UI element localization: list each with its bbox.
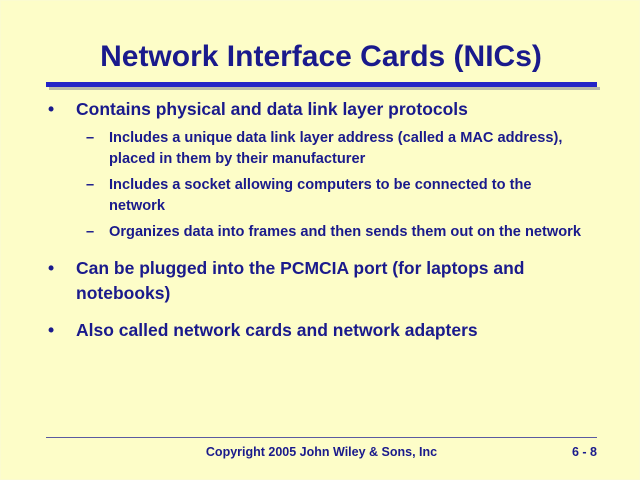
bullet-marker-icon: • — [48, 97, 54, 122]
bullet-item-level2: – Includes a unique data link layer addr… — [1, 128, 640, 170]
dash-marker-icon: – — [86, 222, 94, 243]
bullet-text: Includes a unique data link layer addres… — [109, 130, 562, 167]
bullet-item-level2: – Includes a socket allowing computers t… — [1, 175, 640, 217]
slide-canvas: Network Interface Cards (NICs) • Contain… — [0, 0, 640, 480]
bullet-item-level1: • Can be plugged into the PCMCIA port (f… — [1, 256, 640, 306]
dash-marker-icon: – — [86, 128, 94, 149]
slide-body: • Contains physical and data link layer … — [1, 97, 640, 349]
bullet-text: Includes a socket allowing computers to … — [109, 177, 532, 214]
dash-marker-icon: – — [86, 175, 94, 196]
bullet-text: Organizes data into frames and then send… — [109, 224, 581, 240]
page-number: 6 - 8 — [572, 443, 597, 461]
bullet-item-level2: – Organizes data into frames and then se… — [1, 222, 640, 243]
bullet-item-level1: • Contains physical and data link layer … — [1, 97, 640, 122]
bullet-marker-icon: • — [48, 318, 54, 343]
slide-footer: Copyright 2005 John Wiley & Sons, Inc 6 … — [46, 443, 597, 463]
bullet-text: Can be plugged into the PCMCIA port (for… — [76, 258, 525, 303]
bullet-text: Contains physical and data link layer pr… — [76, 99, 468, 119]
copyright-text: Copyright 2005 John Wiley & Sons, Inc — [46, 443, 597, 461]
footer-divider — [46, 437, 597, 438]
title-underline-shadow — [49, 87, 600, 90]
bullet-text: Also called network cards and network ad… — [76, 320, 478, 340]
page-title: Network Interface Cards (NICs) — [1, 39, 640, 75]
bullet-marker-icon: • — [48, 256, 54, 281]
slide-title-block: Network Interface Cards (NICs) — [1, 39, 640, 75]
bullet-item-level1: • Also called network cards and network … — [1, 318, 640, 343]
